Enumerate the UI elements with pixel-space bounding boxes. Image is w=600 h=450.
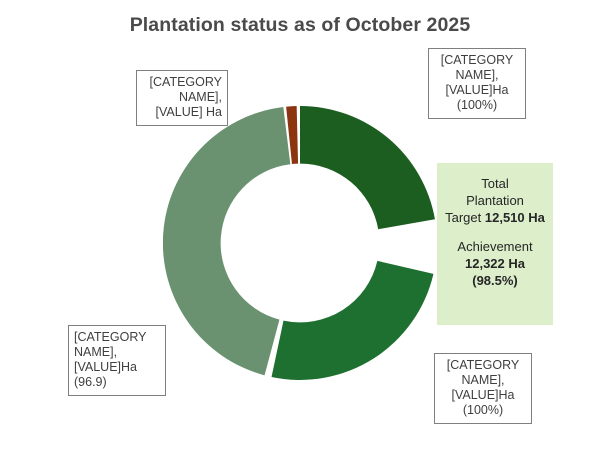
- data-label-top-left[interactable]: [CATEGORY NAME], [VALUE] Ha: [136, 70, 228, 126]
- pie-slice-bottom-right[interactable]: [272, 261, 434, 380]
- summary-target-line1: Total: [443, 175, 547, 192]
- summary-target-line2: Plantation: [443, 192, 547, 209]
- donut-chart-svg: [163, 80, 437, 406]
- summary-target-line3: Target 12,510 Ha: [443, 209, 547, 226]
- pie-slice-left[interactable]: [163, 107, 290, 375]
- pie-slice-top-right[interactable]: [300, 106, 435, 229]
- summary-achievement-value: 12,322 Ha: [443, 255, 547, 272]
- chart-page: Plantation status as of October 2025 [CA…: [0, 0, 600, 450]
- donut-chart: [163, 80, 437, 406]
- data-label-bottom-right[interactable]: [CATEGORY NAME], [VALUE]Ha (100%): [434, 353, 532, 424]
- summary-target-label: Target: [445, 210, 485, 225]
- data-label-bottom-left[interactable]: [CATEGORY NAME], [VALUE]Ha (96.9): [68, 325, 166, 396]
- summary-achievement-percent: (98.5%): [443, 272, 547, 289]
- data-label-top-right[interactable]: [CATEGORY NAME], [VALUE]Ha (100%): [428, 48, 526, 119]
- summary-spacer: [443, 226, 547, 238]
- summary-target-value: 12,510 Ha: [485, 210, 545, 225]
- page-title: Plantation status as of October 2025: [0, 14, 600, 37]
- summary-panel[interactable]: Total Plantation Target 12,510 Ha Achiev…: [437, 163, 553, 325]
- summary-achievement-label: Achievement: [443, 238, 547, 255]
